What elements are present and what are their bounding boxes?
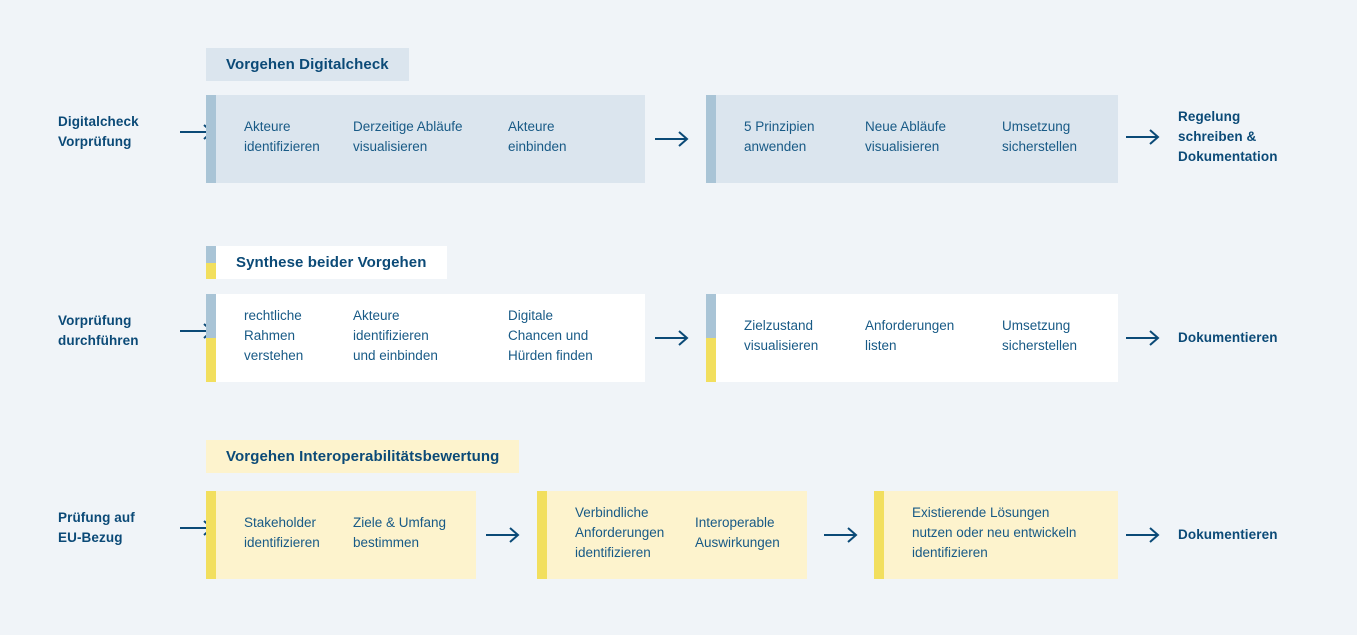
phase-accent-bar	[706, 95, 716, 183]
group-title-accent-bar	[206, 246, 216, 279]
step-item: Akteure identifizieren und einbinden	[353, 306, 438, 366]
group-title-body: Vorgehen Interoperabilitätsbewertung	[206, 440, 519, 473]
step-item: Umsetzung sicherstellen	[1002, 117, 1077, 157]
step-item: Interoperable Auswirkungen	[695, 513, 780, 553]
phase-accent-bar	[706, 294, 716, 382]
step-item: Digitale Chancen und Hürden finden	[508, 306, 593, 366]
phase-steps: rechtliche Rahmen verstehen Akteure iden…	[216, 294, 645, 382]
entry-synthese: Vorprüfung durchführen	[58, 311, 218, 351]
phase-box-1: rechtliche Rahmen verstehen Akteure iden…	[206, 294, 645, 382]
phase-box-1: Stakeholder identifizieren Ziele & Umfan…	[206, 491, 476, 579]
phase-steps: Existierende Lösungen nutzen oder neu en…	[884, 491, 1118, 579]
phase-steps: 5 Prinzipien anwenden Neue Abläufe visua…	[716, 95, 1118, 183]
phase-steps: Akteure identifizieren Derzeitige Abläuf…	[216, 95, 645, 183]
step-item: Neue Abläufe visualisieren	[865, 117, 946, 157]
step-item: Akteure identifizieren	[244, 117, 320, 157]
phase-steps: Verbindliche Anforderungen identifiziere…	[547, 491, 807, 579]
step-item: Akteure einbinden	[508, 117, 567, 157]
arrow-right-icon	[1126, 525, 1164, 545]
group-title-body: Synthese beider Vorgehen	[216, 246, 447, 279]
step-item: Zielzustand visualisieren	[744, 316, 818, 356]
step-item: Stakeholder identifizieren	[244, 513, 320, 553]
group-title-text: Synthese beider Vorgehen	[236, 254, 427, 271]
group-title-text: Vorgehen Digitalcheck	[226, 56, 389, 73]
phase-box-2: Verbindliche Anforderungen identifiziere…	[537, 491, 807, 579]
arrow-right-icon	[655, 328, 693, 348]
phase-accent-bar	[874, 491, 884, 579]
phase-steps: Stakeholder identifizieren Ziele & Umfan…	[216, 491, 476, 579]
diagram-canvas: Vorgehen Digitalcheck Digitalcheck Vorpr…	[0, 0, 1357, 635]
entry-label: Vorprüfung durchführen	[58, 311, 166, 351]
entry-digitalcheck: Digitalcheck Vorprüfung	[58, 112, 218, 152]
phase-box-2: Zielzustand visualisieren Anforderungen …	[706, 294, 1118, 382]
phase-box-2: 5 Prinzipien anwenden Neue Abläufe visua…	[706, 95, 1118, 183]
group-title-body: Vorgehen Digitalcheck	[206, 48, 409, 81]
group-title-digitalcheck: Vorgehen Digitalcheck	[206, 48, 409, 81]
exit-interoperabilitaet: Dokumentieren	[1126, 525, 1278, 545]
phase-accent-bar	[206, 491, 216, 579]
exit-label: Regelung schreiben & Dokumentation	[1178, 107, 1278, 167]
entry-interoperabilitaet: Prüfung auf EU-Bezug	[58, 508, 218, 548]
arrow-right-icon	[824, 525, 862, 545]
group-title-interoperabilitaet: Vorgehen Interoperabilitätsbewertung	[206, 440, 519, 473]
step-item: Existierende Lösungen nutzen oder neu en…	[912, 503, 1076, 563]
entry-label: Prüfung auf EU-Bezug	[58, 508, 166, 548]
phase-box-3: Existierende Lösungen nutzen oder neu en…	[874, 491, 1118, 579]
exit-synthese: Dokumentieren	[1126, 328, 1278, 348]
arrow-right-icon	[1126, 127, 1164, 147]
exit-label: Dokumentieren	[1178, 328, 1278, 348]
step-item: Anforderungen listen	[865, 316, 954, 356]
step-item: Umsetzung sicherstellen	[1002, 316, 1077, 356]
group-title-synthese: Synthese beider Vorgehen	[206, 246, 447, 279]
phase-steps: Zielzustand visualisieren Anforderungen …	[716, 294, 1118, 382]
step-item: Verbindliche Anforderungen identifiziere…	[575, 503, 664, 563]
step-item: rechtliche Rahmen verstehen	[244, 306, 303, 366]
arrow-right-icon	[1126, 328, 1164, 348]
phase-accent-bar	[206, 294, 216, 382]
group-title-text: Vorgehen Interoperabilitätsbewertung	[226, 448, 499, 465]
phase-box-1: Akteure identifizieren Derzeitige Abläuf…	[206, 95, 645, 183]
entry-label: Digitalcheck Vorprüfung	[58, 112, 166, 152]
step-item: Ziele & Umfang bestimmen	[353, 513, 446, 553]
arrow-right-icon	[486, 525, 524, 545]
exit-label: Dokumentieren	[1178, 525, 1278, 545]
arrow-right-icon	[655, 129, 693, 149]
phase-accent-bar	[206, 95, 216, 183]
phase-accent-bar	[537, 491, 547, 579]
step-item: Derzeitige Abläufe visualisieren	[353, 117, 463, 157]
step-item: 5 Prinzipien anwenden	[744, 117, 815, 157]
exit-digitalcheck: Regelung schreiben & Dokumentation	[1126, 107, 1278, 167]
